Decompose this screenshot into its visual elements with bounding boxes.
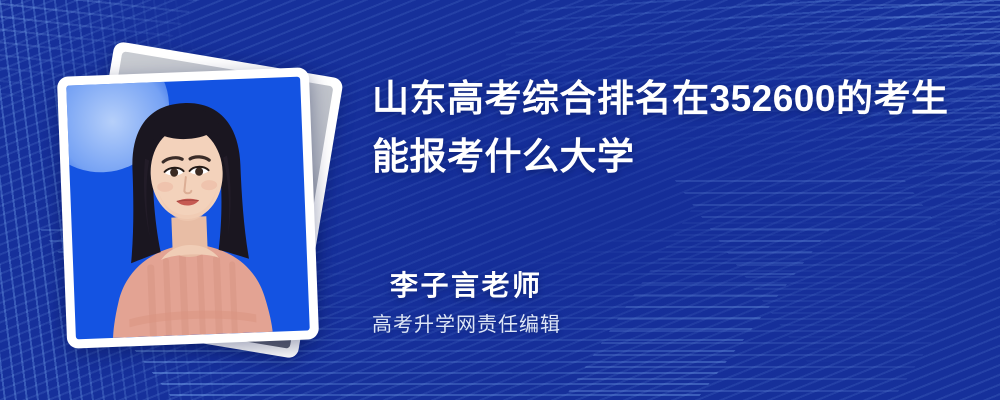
byline: 李子言老师 高考升学网责任编辑 — [390, 268, 561, 340]
author-role: 高考升学网责任编辑 — [372, 310, 561, 340]
page-title-line-2: 能报考什么大学 — [372, 128, 952, 186]
author-name: 李子言老师 — [390, 268, 561, 304]
page-title: 山东高考综合排名在352600的考生 能报考什么大学 — [372, 70, 952, 186]
page-title-line-1: 山东高考综合排名在352600的考生 — [372, 70, 952, 128]
article-cover-banner: 山东高考综合排名在352600的考生 能报考什么大学 李子言老师 高考升学网责任… — [0, 0, 1000, 400]
author-portrait-photo — [66, 77, 310, 340]
photo-card-front — [57, 67, 319, 348]
portrait-illustration — [66, 77, 310, 340]
cover-text-content: 山东高考综合排名在352600的考生 能报考什么大学 李子言老师 高考升学网责任… — [372, 0, 972, 400]
photo-card-stack — [62, 52, 342, 352]
